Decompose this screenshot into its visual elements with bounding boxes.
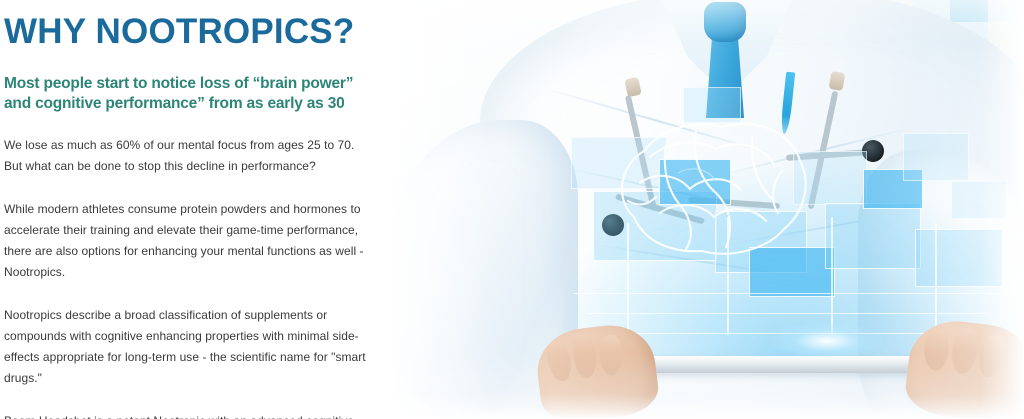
article-text-column: WHY NOOTROPICS? Most people start to not…	[0, 0, 388, 419]
image-left-fade	[388, 0, 400, 419]
body-paragraph-1: We lose as much as 60% of our mental foc…	[4, 135, 368, 177]
holographic-brain-icon	[604, 113, 822, 281]
hero-image	[388, 0, 1024, 419]
body-paragraph-2: While modern athletes consume protein po…	[4, 199, 368, 283]
body-paragraph-4: Boom Headshot is a potent Nootropic with…	[4, 411, 368, 419]
page-subtitle: Most people start to notice loss of “bra…	[4, 74, 368, 114]
body-paragraph-3: Nootropics describe a broad classificati…	[4, 305, 368, 389]
page-root: WHY NOOTROPICS? Most people start to not…	[0, 0, 1024, 419]
page-title: WHY NOOTROPICS?	[4, 12, 368, 52]
